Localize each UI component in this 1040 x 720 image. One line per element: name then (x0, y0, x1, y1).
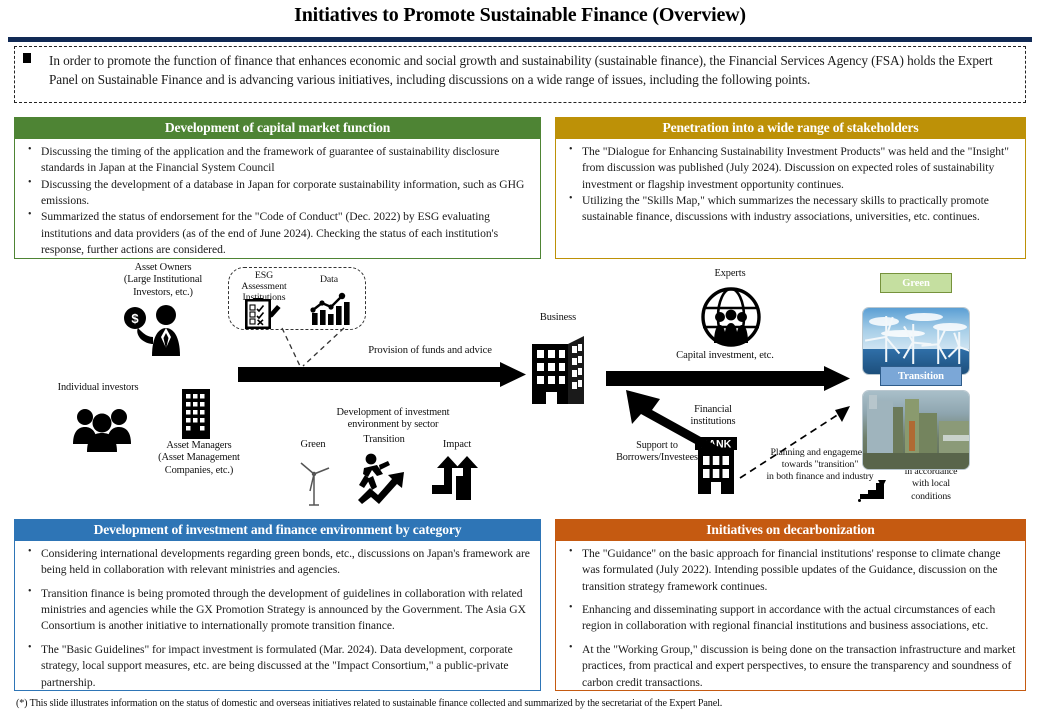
bullet-list: Discussing the timing of the application… (20, 144, 533, 259)
turbine-shape (903, 324, 923, 364)
list-item: The "Basic Guidelines" for impact invest… (20, 642, 533, 691)
panel-title: Penetration into a wide range of stakeho… (556, 118, 1025, 139)
plant-shape (909, 421, 915, 451)
list-item: The "Guidance" on the basic approach for… (561, 546, 1018, 595)
list-item: Discussing the timing of the application… (20, 144, 533, 177)
panel-title: Development of capital market function (15, 118, 540, 139)
list-item: The "Dialogue for Enhancing Sustainabili… (561, 144, 1018, 193)
businessman-with-money-icon: $ (122, 304, 194, 358)
page-title: Initiatives to Promote Sustainable Finan… (0, 4, 1040, 27)
panel-initiatives-on-decarbonization: Initiatives on decarbonization The "Guid… (555, 519, 1026, 691)
panel-development-of-capital-market-function: Development of capital market function D… (14, 117, 541, 259)
offshore-wind-farm-photo (862, 307, 970, 375)
panel-title: Development of investment and finance en… (15, 520, 540, 541)
plant-shape (893, 407, 903, 453)
panel-body: Considering international developments r… (15, 541, 540, 704)
footnote-text: (*) This slide illustrates information o… (16, 698, 1026, 709)
turbine-shape (951, 332, 967, 364)
title-divider (8, 37, 1032, 42)
badge-green: Green (880, 273, 952, 293)
support-to-borrowers-label: Support to Borrowers/Investees (597, 440, 717, 464)
business-building-icon (528, 330, 588, 406)
cloud-shape (905, 313, 943, 321)
bullet-list: The "Dialogue for Enhancing Sustainabili… (561, 144, 1018, 226)
industrial-plant-photo (862, 390, 970, 470)
lead-summary-text: In order to promote the function of fina… (49, 51, 1017, 90)
sustainable-finance-flow-diagram: Asset Owners (Large Institutional Invest… (0, 262, 1040, 518)
experts-label: Experts (680, 268, 780, 280)
plant-shape (869, 395, 877, 409)
wind-turbine-icon (296, 454, 332, 506)
turbine-shape (929, 328, 947, 364)
panel-body: Discussing the timing of the application… (15, 139, 540, 264)
arrow-provision-of-funds (238, 362, 526, 388)
office-building-icon (180, 387, 212, 439)
plant-shape (943, 435, 969, 441)
capital-investment-arrow-label: Capital investment, etc. (630, 350, 820, 363)
two-up-arrows-impact-icon (430, 454, 484, 502)
plant-ground (863, 453, 970, 470)
sector-environment-label: Development of investment environment by… (288, 407, 498, 432)
asset-managers-label: Asset Managers (Asset Management Compani… (140, 440, 258, 477)
list-item: Considering international developments r… (20, 546, 533, 579)
badge-transition: Transition (880, 366, 962, 386)
panel-body: The "Guidance" on the basic approach for… (556, 541, 1025, 704)
asset-owners-label: Asset Owners (Large Institutional Invest… (88, 262, 238, 299)
business-label: Business (510, 312, 606, 324)
panel-penetration-into-a-wide-range-of-stakeholders: Penetration into a wide range of stakeho… (555, 117, 1026, 259)
running-person-growth-arrow-icon (352, 452, 410, 504)
sector-transition-label: Transition (342, 434, 426, 446)
list-item: Transition finance is being promoted thr… (20, 586, 533, 635)
global-experts-icon (700, 286, 762, 348)
panel-title: Initiatives on decarbonization (556, 520, 1025, 541)
list-item: Discussing the development of a database… (20, 177, 533, 210)
group-of-people-icon (72, 404, 132, 454)
data-label: Data (303, 274, 355, 286)
list-item: Summarized the status of endorsement for… (20, 209, 533, 258)
svg-text:$: $ (131, 311, 139, 326)
square-bullet-icon (23, 51, 49, 66)
lead-summary-box: In order to promote the function of fina… (14, 46, 1026, 103)
list-item: At the "Working Group," discussion is be… (561, 642, 1018, 691)
plant-shape (919, 413, 937, 453)
individual-investors-label: Individual investors (28, 382, 168, 394)
panel-body: The "Dialogue for Enhancing Sustainabili… (556, 139, 1025, 231)
esg-assessment-callout: ESG Assessment Institutions Data (228, 267, 366, 330)
list-item: Utilizing the "Skills Map," which summar… (561, 193, 1018, 226)
bullet-list: The "Guidance" on the basic approach for… (561, 546, 1018, 692)
turbine-shape (875, 316, 897, 362)
list-item: Enhancing and disseminating support in a… (561, 602, 1018, 635)
bar-chart-growth-icon (311, 292, 353, 326)
bullet-list: Considering international developments r… (20, 546, 533, 692)
panel-development-of-investment-and-finance-environment-by-category: Development of investment and finance en… (14, 519, 541, 691)
sector-green-label: Green (278, 439, 348, 451)
checklist-clipboard-icon (243, 298, 283, 330)
sector-impact-label: Impact (424, 439, 490, 451)
provision-of-funds-arrow-label: Provision of funds and advice (330, 345, 530, 358)
